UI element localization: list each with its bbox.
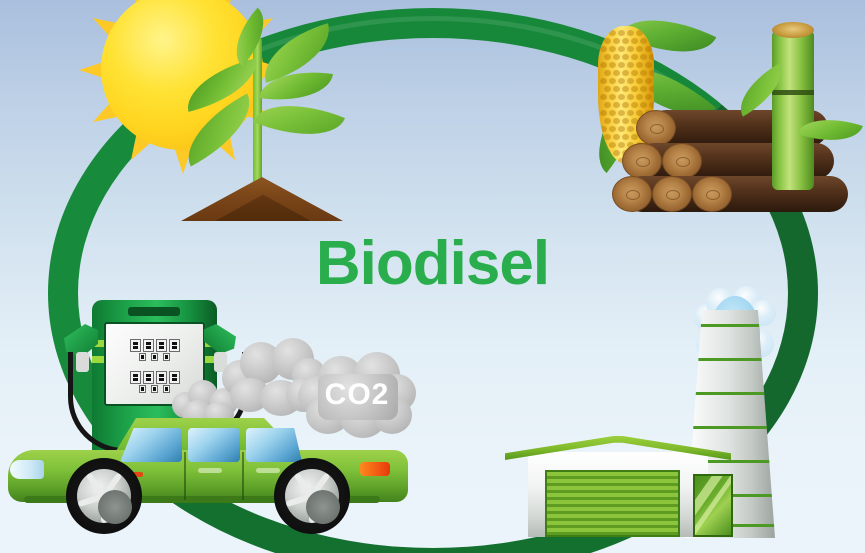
corn-kernel xyxy=(622,54,629,60)
corn-kernel xyxy=(604,118,611,124)
corn-kernel xyxy=(627,78,634,84)
sugarcane-icon xyxy=(772,18,816,193)
corn-kernel xyxy=(622,86,629,92)
sugarcane-node xyxy=(772,90,814,95)
corn-kernel xyxy=(609,158,616,164)
corn-kernel xyxy=(627,62,634,68)
pump-digit-small xyxy=(139,385,146,393)
co2-label: CO2 xyxy=(298,352,416,438)
corn-kernel xyxy=(613,118,620,124)
corn-kernel xyxy=(636,62,643,68)
corn-kernel xyxy=(640,38,647,44)
corn-kernel xyxy=(636,30,643,36)
corn-kernel xyxy=(600,126,607,132)
corn-kernel xyxy=(613,150,620,156)
car-door-line xyxy=(242,452,244,500)
log-end xyxy=(692,176,732,212)
corn-kernel xyxy=(604,86,611,92)
plant-leaf xyxy=(180,58,264,112)
corn-kernel xyxy=(631,70,638,76)
corn-kernel xyxy=(645,78,652,84)
corn-kernel xyxy=(600,110,607,116)
corn-kernel xyxy=(649,54,654,60)
factory-building xyxy=(505,422,735,537)
corn-kernel xyxy=(645,46,652,52)
corn-kernel xyxy=(640,54,647,60)
corn-kernel xyxy=(604,102,611,108)
car-wheel-rim xyxy=(77,469,131,523)
pump-digit-small xyxy=(163,353,170,361)
corn-kernel xyxy=(613,70,620,76)
plant-leaf xyxy=(173,94,265,167)
pump-digit-large xyxy=(143,339,154,352)
corn-kernel xyxy=(649,70,654,76)
factory-shutter-door xyxy=(545,470,680,537)
pump-digit-large xyxy=(143,371,154,384)
corn-kernel xyxy=(631,86,638,92)
car-wheel xyxy=(274,458,350,534)
corn-kernel xyxy=(627,30,634,36)
car-door-handle xyxy=(198,468,222,473)
corn-kernel xyxy=(600,158,607,164)
corn-kernel xyxy=(649,102,654,108)
corn-kernel xyxy=(636,94,643,100)
page-title: Biodisel xyxy=(0,228,865,299)
corn-kernel xyxy=(609,46,616,52)
corn-kernel xyxy=(649,86,654,92)
corn-kernel xyxy=(613,102,620,108)
corn-kernel xyxy=(600,78,607,84)
pump-digit-small xyxy=(139,353,146,361)
log-end xyxy=(612,176,652,212)
sugarcane-cut-top xyxy=(772,22,814,38)
corn-kernel xyxy=(600,62,607,68)
pump-digit-large xyxy=(130,339,141,352)
corn-kernel xyxy=(618,94,625,100)
corn-kernel xyxy=(604,38,611,44)
corn-kernel xyxy=(609,126,616,132)
car-door-line xyxy=(184,452,186,500)
pump-digit-large xyxy=(156,371,167,384)
corn-kernel xyxy=(636,78,643,84)
corn-kernel xyxy=(631,102,638,108)
corn-kernel xyxy=(627,46,634,52)
corn-kernel xyxy=(609,142,616,148)
log-end xyxy=(636,110,676,146)
corn-kernel xyxy=(609,94,616,100)
corn-kernel xyxy=(645,94,652,100)
corn-kernel xyxy=(609,78,616,84)
corn-kernel xyxy=(613,38,620,44)
log-end xyxy=(622,143,662,179)
corn-kernel xyxy=(649,38,654,44)
corn-kernel xyxy=(609,62,616,68)
car-taillight xyxy=(360,462,390,476)
car-wheel-hub xyxy=(306,490,340,524)
corn-kernel xyxy=(618,30,625,36)
car-door-handle xyxy=(256,468,280,473)
corn-kernel xyxy=(640,70,647,76)
corn-kernel xyxy=(613,134,620,140)
corn-kernel xyxy=(645,62,652,68)
corn-kernel xyxy=(600,142,607,148)
plant-seedling-icon xyxy=(175,15,350,215)
corn-kernel xyxy=(645,30,652,36)
corn-kernel xyxy=(609,110,616,116)
pump-digit-small xyxy=(163,385,170,393)
pump-digit-large xyxy=(169,339,180,352)
corn-kernel xyxy=(618,78,625,84)
corn-kernel xyxy=(640,86,647,92)
corn-kernel xyxy=(604,54,611,60)
biodiesel-cycle-infographic: Biodisel xyxy=(0,0,865,553)
corn-kernel xyxy=(609,30,616,36)
car-wheel-rim xyxy=(285,469,339,523)
corn-kernel xyxy=(622,70,629,76)
car-wheel-hub xyxy=(98,490,132,524)
corn-kernel xyxy=(604,150,611,156)
corn-kernel xyxy=(622,38,629,44)
fuel-pump-cap xyxy=(128,307,180,316)
corn-kernel xyxy=(604,70,611,76)
tower-band xyxy=(685,358,775,361)
corn-kernel xyxy=(600,30,607,36)
corn-kernel xyxy=(622,102,629,108)
corn-kernel xyxy=(627,94,634,100)
factory-window xyxy=(693,474,733,537)
corn-kernel xyxy=(618,46,625,52)
corn-kernel xyxy=(631,54,638,60)
log-end xyxy=(662,143,702,179)
pump-digit-small xyxy=(151,353,158,361)
pump-digit-large xyxy=(156,339,167,352)
exhaust-cloud-co2: CO2 xyxy=(298,352,416,438)
corn-kernel xyxy=(613,54,620,60)
corn-kernel xyxy=(631,38,638,44)
car-rear-door-window xyxy=(246,428,302,462)
corn-kernel xyxy=(613,86,620,92)
sugarcane-stalk xyxy=(772,30,814,190)
corn-kernel xyxy=(600,94,607,100)
corn-kernel xyxy=(604,134,611,140)
corn-kernel xyxy=(618,62,625,68)
pump-digit-small xyxy=(151,385,158,393)
log-end xyxy=(652,176,692,212)
car-headlight xyxy=(10,460,44,479)
corn-kernel xyxy=(600,46,607,52)
plant-leaf xyxy=(222,8,279,67)
corn-kernel xyxy=(640,102,647,108)
car-wheel xyxy=(66,458,142,534)
car-front-door-window xyxy=(188,428,240,462)
corn-kernel xyxy=(636,46,643,52)
tower-band xyxy=(685,392,775,395)
